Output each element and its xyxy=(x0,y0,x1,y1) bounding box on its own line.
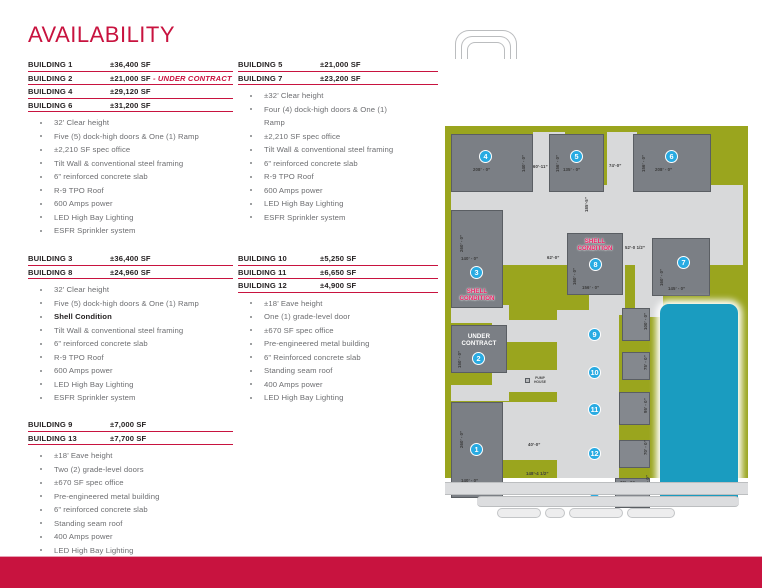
building-5-width-dim: 135’ - 0” xyxy=(563,167,580,172)
list-item: ESFR Sprinkler system xyxy=(238,211,438,224)
list-item: ESFR Sprinkler system xyxy=(28,391,233,404)
building-8-width-dim: 156’ - 0” xyxy=(582,285,599,290)
building-size: ±7,000 SF xyxy=(110,420,233,429)
building-name: BUILDING 7 xyxy=(238,74,320,83)
building-12-depth-dim: 70’ - 0” xyxy=(643,440,648,455)
building-7-depth-dim: 160’ - 0” xyxy=(659,269,664,286)
site-dim-62: 62’-0” xyxy=(547,255,560,260)
list-item: ±2,210 SF spec office xyxy=(238,130,438,143)
building-6-width-dim: 208’ - 0” xyxy=(655,167,672,172)
list-item: LED High Bay Lighting xyxy=(28,211,233,224)
building-badge-3[interactable]: 3 xyxy=(470,266,483,279)
table-row: BUILDING 1 ±36,400 SF xyxy=(28,58,233,72)
footer-band xyxy=(0,557,762,588)
feature-list: ±18’ Eave height Two (2) grade-level doo… xyxy=(28,449,233,557)
pump-house-label: PUMP HOUSE xyxy=(531,376,549,384)
building-1-depth-dim: 260’ - 0” xyxy=(459,431,464,448)
table-row: BUILDING 13 ±7,700 SF xyxy=(28,432,233,446)
list-item: One (1) grade-level door xyxy=(238,310,438,323)
list-item: 400 Amps power xyxy=(28,530,233,543)
building-size: ±21,000 SF - UNDER CONTRACT xyxy=(110,74,233,83)
building-size: ±29,120 SF xyxy=(110,87,233,96)
building-2-depth-dim: 150’ - 0” xyxy=(457,351,462,368)
list-item: Standing seam roof xyxy=(28,517,233,530)
building-badge-5[interactable]: 5 xyxy=(570,150,583,163)
availability-block-1-2-4-6: BUILDING 1 ±36,400 SF BUILDING 2 ±21,000… xyxy=(28,58,233,238)
building-badge-7[interactable]: 7 xyxy=(677,256,690,269)
list-item: LED High Bay Lighting xyxy=(28,378,233,391)
availability-block-9-13: BUILDING 9 ±7,000 SF BUILDING 13 ±7,700 … xyxy=(28,418,233,557)
building-2-status-label: UNDER CONTRACT xyxy=(451,333,507,347)
feature-list: 32’ Clear height Five (5) dock-high door… xyxy=(28,283,233,404)
building-size: ±23,200 SF xyxy=(320,74,438,83)
site-dim-185-5: 185’-5” xyxy=(584,197,589,212)
road-south-secondary xyxy=(477,496,739,507)
list-item: ±18’ Eave height xyxy=(238,297,438,310)
list-item: Two (2) grade-level doors xyxy=(28,463,233,476)
feature-list: ±32’ Clear height Four (4) dock-high doo… xyxy=(238,89,438,224)
list-item: 400 Amps power xyxy=(238,378,438,391)
table-row: BUILDING 8 ±24,960 SF xyxy=(28,266,233,280)
building-8-depth-dim: 160’ - 0” xyxy=(572,268,577,285)
site-dim-148: 148’-4 1/2” xyxy=(526,471,549,476)
building-10-depth-dim: 75’ - 0” xyxy=(643,355,648,370)
table-row: BUILDING 4 ±29,120 SF xyxy=(28,85,233,99)
list-item: Ramp xyxy=(238,116,438,129)
list-item: Tilt Wall & conventional steel framing xyxy=(238,143,438,156)
building-badge-11[interactable]: 11 xyxy=(588,403,601,416)
pump-house-footprint xyxy=(525,378,530,383)
list-item: R-9 TPO Roof xyxy=(28,184,233,197)
availability-block-10-11-12: BUILDING 10 ±5,250 SF BUILDING 11 ±6,650… xyxy=(238,252,438,405)
table-row: BUILDING 12 ±4,900 SF xyxy=(238,279,438,293)
building-3-depth-dim: 260’ - 0” xyxy=(459,235,464,252)
list-item: ±670 SF spec office xyxy=(28,476,233,489)
building-size: ±31,200 SF xyxy=(110,101,233,110)
list-item: 32’ Clear height xyxy=(28,283,233,296)
building-name: BUILDING 11 xyxy=(238,268,320,277)
building-name: BUILDING 3 xyxy=(28,254,110,263)
list-item: 600 Amps power xyxy=(28,364,233,377)
building-4-width-dim: 208’ - 0” xyxy=(473,167,490,172)
site-dim-74: 74’-0” xyxy=(609,163,622,168)
list-item: Pre-engineered metal building xyxy=(28,490,233,503)
status-badge: - UNDER CONTRACT xyxy=(153,74,232,83)
building-5-depth-dim: 156’ - 0” xyxy=(555,155,560,172)
list-item: R-9 TPO Roof xyxy=(238,170,438,183)
site-dim-40: 40’-0” xyxy=(528,442,541,447)
feature-list: 32’ Clear height Five (5) dock-high door… xyxy=(28,116,233,237)
building-6-depth-dim: 156’ - 0” xyxy=(641,155,646,172)
truck-court-1 xyxy=(503,402,559,460)
building-size: ±7,700 SF xyxy=(110,434,233,443)
parcel-outline-c xyxy=(569,508,623,518)
table-row: BUILDING 6 ±31,200 SF xyxy=(28,99,233,113)
building-size: ±36,400 SF xyxy=(110,60,233,69)
list-item: 6” Reinforced concrete slab xyxy=(238,351,438,364)
building-7-width-dim: 145’ - 0” xyxy=(668,286,685,291)
parcel-outline-a xyxy=(497,508,541,518)
list-item: 32’ Clear height xyxy=(28,116,233,129)
list-item: 6” reinforced concrete slab xyxy=(28,337,233,350)
building-badge-10[interactable]: 10 xyxy=(588,366,601,379)
building-name: BUILDING 5 xyxy=(238,60,320,69)
parcel-outline-b xyxy=(545,508,565,518)
list-item: LED High Bay Lighting xyxy=(28,544,233,557)
building-name: BUILDING 9 xyxy=(28,420,110,429)
list-item: 600 Amps power xyxy=(28,197,233,210)
building-size: ±5,250 SF xyxy=(320,254,438,263)
building-size: ±21,000 SF xyxy=(320,60,438,69)
list-item: 600 Amps power xyxy=(238,184,438,197)
building-badge-12[interactable]: 12 xyxy=(588,447,601,460)
list-item: Four (4) dock-high doors & One (1) xyxy=(238,103,438,116)
table-row: BUILDING 5 ±21,000 SF xyxy=(238,58,438,72)
list-item: ±2,210 SF spec office xyxy=(28,143,233,156)
building-name: BUILDING 12 xyxy=(238,281,320,290)
building-name: BUILDING 8 xyxy=(28,268,110,277)
availability-block-3-8: BUILDING 3 ±36,400 SF BUILDING 8 ±24,960… xyxy=(28,252,233,405)
table-row: BUILDING 3 ±36,400 SF xyxy=(28,252,233,266)
list-item: R-9 TPO Roof xyxy=(28,351,233,364)
building-name: BUILDING 2 xyxy=(28,74,110,83)
building-size: ±24,960 SF xyxy=(110,268,233,277)
list-item: 6” reinforced concrete slab xyxy=(238,157,438,170)
list-item: ±32’ Clear height xyxy=(238,89,438,102)
list-item: LED High Bay Lighting xyxy=(238,197,438,210)
building-badge-4[interactable]: 4 xyxy=(479,150,492,163)
building-name: BUILDING 4 xyxy=(28,87,110,96)
building-3-width-dim: 140’ - 0” xyxy=(461,256,478,261)
building-3-status-label: SHELL CONDITION xyxy=(451,288,503,302)
site-dim-60-11: 60’-11” xyxy=(533,164,548,169)
list-item: ±670 SF spec office xyxy=(238,324,438,337)
building-name: BUILDING 1 xyxy=(28,60,110,69)
list-item: Pre-engineered metal building xyxy=(238,337,438,350)
building-8-status-label: SHELL CONDITION xyxy=(567,238,623,252)
building-name: BUILDING 10 xyxy=(238,254,320,263)
availability-block-5-7: BUILDING 5 ±21,000 SF BUILDING 7 ±23,200… xyxy=(238,58,438,224)
list-item: Five (5) dock-high doors & One (1) Ramp xyxy=(28,297,233,310)
truck-court-2b xyxy=(451,385,509,401)
list-item: 6” reinforced concrete slab xyxy=(28,170,233,183)
building-size: ±4,900 SF xyxy=(320,281,438,290)
list-item: ESFR Sprinkler system xyxy=(28,224,233,237)
list-item: ±18’ Eave height xyxy=(28,449,233,462)
detention-pond xyxy=(660,304,738,506)
building-badge-9[interactable]: 9 xyxy=(588,328,601,341)
list-item: Tilt Wall & conventional steel framing xyxy=(28,157,233,170)
list-item: Tilt Wall & conventional steel framing xyxy=(28,324,233,337)
table-row: BUILDING 9 ±7,000 SF xyxy=(28,418,233,432)
building-badge-8[interactable]: 8 xyxy=(589,258,602,271)
list-item: Five (5) dock-high doors & One (1) Ramp xyxy=(28,130,233,143)
site-dim-52: 52’-0 1/2” xyxy=(625,245,645,250)
building-11-depth-dim: 95’ - 0” xyxy=(643,398,648,413)
table-row: BUILDING 7 ±23,200 SF xyxy=(238,72,438,86)
building-badge-6[interactable]: 6 xyxy=(665,150,678,163)
building-9-depth-dim: 100’ - 0” xyxy=(643,313,648,330)
availability-page: AVAILABILITY BUILDING 1 ±36,400 SF BUILD… xyxy=(0,0,762,588)
building-size: ±36,400 SF xyxy=(110,254,233,263)
road-loop-inner2 xyxy=(467,42,505,59)
list-item: 6” reinforced concrete slab xyxy=(28,503,233,516)
list-item: Shell Condition xyxy=(28,310,233,323)
list-item: LED High Bay Lighting xyxy=(238,391,438,404)
road-south-main xyxy=(445,482,748,495)
table-row: BUILDING 11 ±6,650 SF xyxy=(238,266,438,280)
building-name: BUILDING 6 xyxy=(28,101,110,110)
building-size: ±6,650 SF xyxy=(320,268,438,277)
building-name: BUILDING 13 xyxy=(28,434,110,443)
table-row: BUILDING 2 ±21,000 SF - UNDER CONTRACT xyxy=(28,72,233,86)
building-badge-1[interactable]: 1 xyxy=(470,443,483,456)
page-title: AVAILABILITY xyxy=(28,22,175,48)
site-plan: 4 208’ - 0” 140’ - 0” 60’-11” 5 135’ - 0… xyxy=(437,30,757,490)
building-4-depth-dim: 140’ - 0” xyxy=(521,155,526,172)
list-item: Standing seam roof xyxy=(238,364,438,377)
parcel-outline-d xyxy=(627,508,675,518)
table-row: BUILDING 10 ±5,250 SF xyxy=(238,252,438,266)
building-badge-2[interactable]: 2 xyxy=(472,352,485,365)
feature-list: ±18’ Eave height One (1) grade-level doo… xyxy=(238,297,438,405)
